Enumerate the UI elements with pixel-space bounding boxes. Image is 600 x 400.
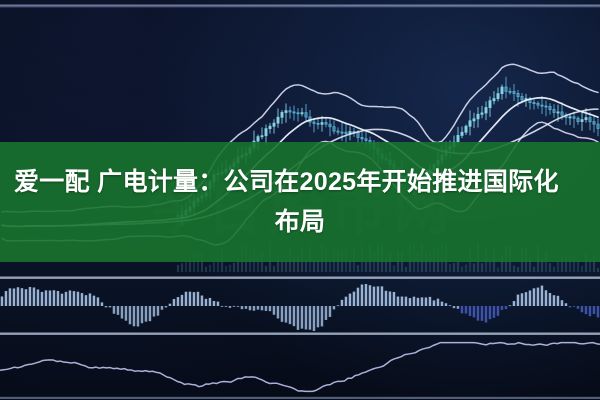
top-divider-line	[0, 5, 600, 7]
top-divider-shadow	[0, 7, 600, 8]
panel-separator-bottom	[0, 397, 600, 399]
panel-separator-top	[0, 277, 600, 279]
macd-histogram-series	[1, 284, 599, 331]
headline-line-2: 布局	[10, 202, 590, 242]
panel-separator-middle	[0, 333, 600, 335]
headline-band: 爱一配 广电计量：公司在2025年开始推进国际化 布局	[0, 142, 600, 262]
indicator-line-series	[0, 343, 600, 392]
headline-line-1: 爱一配 广电计量：公司在2025年开始推进国际化	[10, 162, 590, 202]
news-banner-image: 今日股市网 爱一配 广电计量：公司在2025年开始推进国际化 布局	[0, 0, 600, 400]
headline-text: 爱一配 广电计量：公司在2025年开始推进国际化 布局	[0, 162, 600, 242]
